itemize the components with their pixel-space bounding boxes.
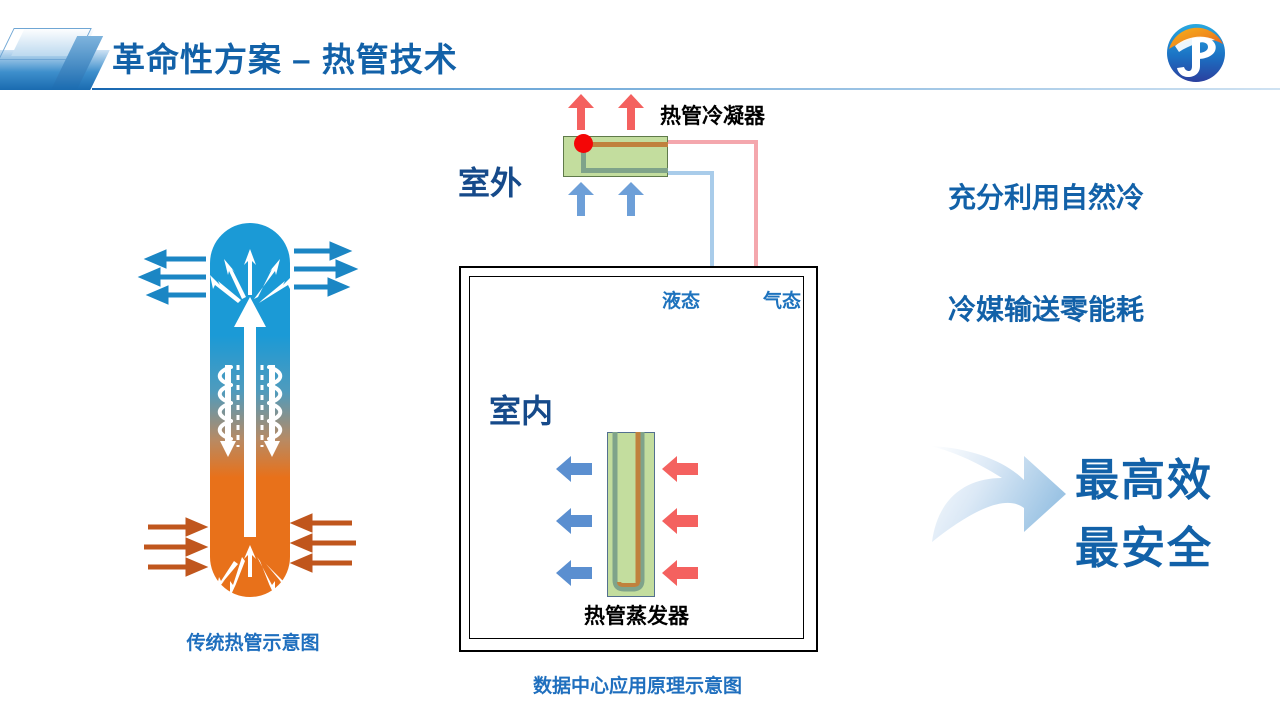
benefit-text-1: 充分利用自然冷 bbox=[948, 176, 1144, 216]
conclusion-text-2: 最安全 bbox=[1075, 512, 1213, 576]
benefit-text-2: 冷媒输送零能耗 bbox=[948, 288, 1144, 328]
evaporator-internal-u-tube bbox=[607, 432, 655, 597]
cool-air-up-arrow-1 bbox=[566, 182, 596, 216]
gas-pipe-top-horizontal bbox=[668, 140, 758, 144]
cold-air-out-arrow-2 bbox=[556, 508, 592, 534]
cold-air-out-arrow-1 bbox=[556, 456, 592, 482]
condenser-inlet-marker bbox=[574, 134, 593, 153]
condenser-liquid-out-line bbox=[581, 168, 668, 173]
conclusion-text-1: 最高效 bbox=[1075, 444, 1213, 508]
condenser-label: 热管冷凝器 bbox=[660, 100, 765, 130]
cool-air-up-arrow-2 bbox=[616, 182, 646, 216]
condenser-gas-line bbox=[583, 142, 668, 147]
hot-air-in-arrow-1 bbox=[662, 456, 698, 482]
evaporator-label: 热管蒸发器 bbox=[584, 600, 689, 630]
liquid-pipe-top-horizontal bbox=[668, 171, 714, 175]
company-logo-icon bbox=[1165, 22, 1227, 84]
hot-air-in-arrow-2 bbox=[662, 508, 698, 534]
hot-air-in-arrow-3 bbox=[662, 560, 698, 586]
header-divider bbox=[92, 88, 1280, 90]
page-title: 革命性方案 – 热管技术 bbox=[112, 33, 458, 81]
traditional-heat-pipe-illustration bbox=[130, 215, 370, 605]
curved-right-arrow-icon bbox=[928, 438, 1068, 548]
left-figure-caption: 传统热管示意图 bbox=[128, 628, 378, 655]
outdoor-zone-label: 室外 bbox=[458, 158, 522, 204]
liquid-phase-label: 液态 bbox=[662, 286, 700, 313]
slide-canvas: 革命性方案 – 热管技术 bbox=[0, 0, 1280, 720]
cold-air-out-arrow-3 bbox=[556, 560, 592, 586]
gas-phase-label: 气态 bbox=[763, 286, 801, 313]
hot-air-up-arrow-1 bbox=[566, 94, 596, 130]
slide-header: 革命性方案 – 热管技术 bbox=[0, 0, 1280, 95]
indoor-zone-label: 室内 bbox=[489, 386, 553, 432]
hot-air-up-arrow-2 bbox=[616, 94, 646, 130]
center-figure-caption: 数据中心应用原理示意图 bbox=[460, 671, 815, 698]
